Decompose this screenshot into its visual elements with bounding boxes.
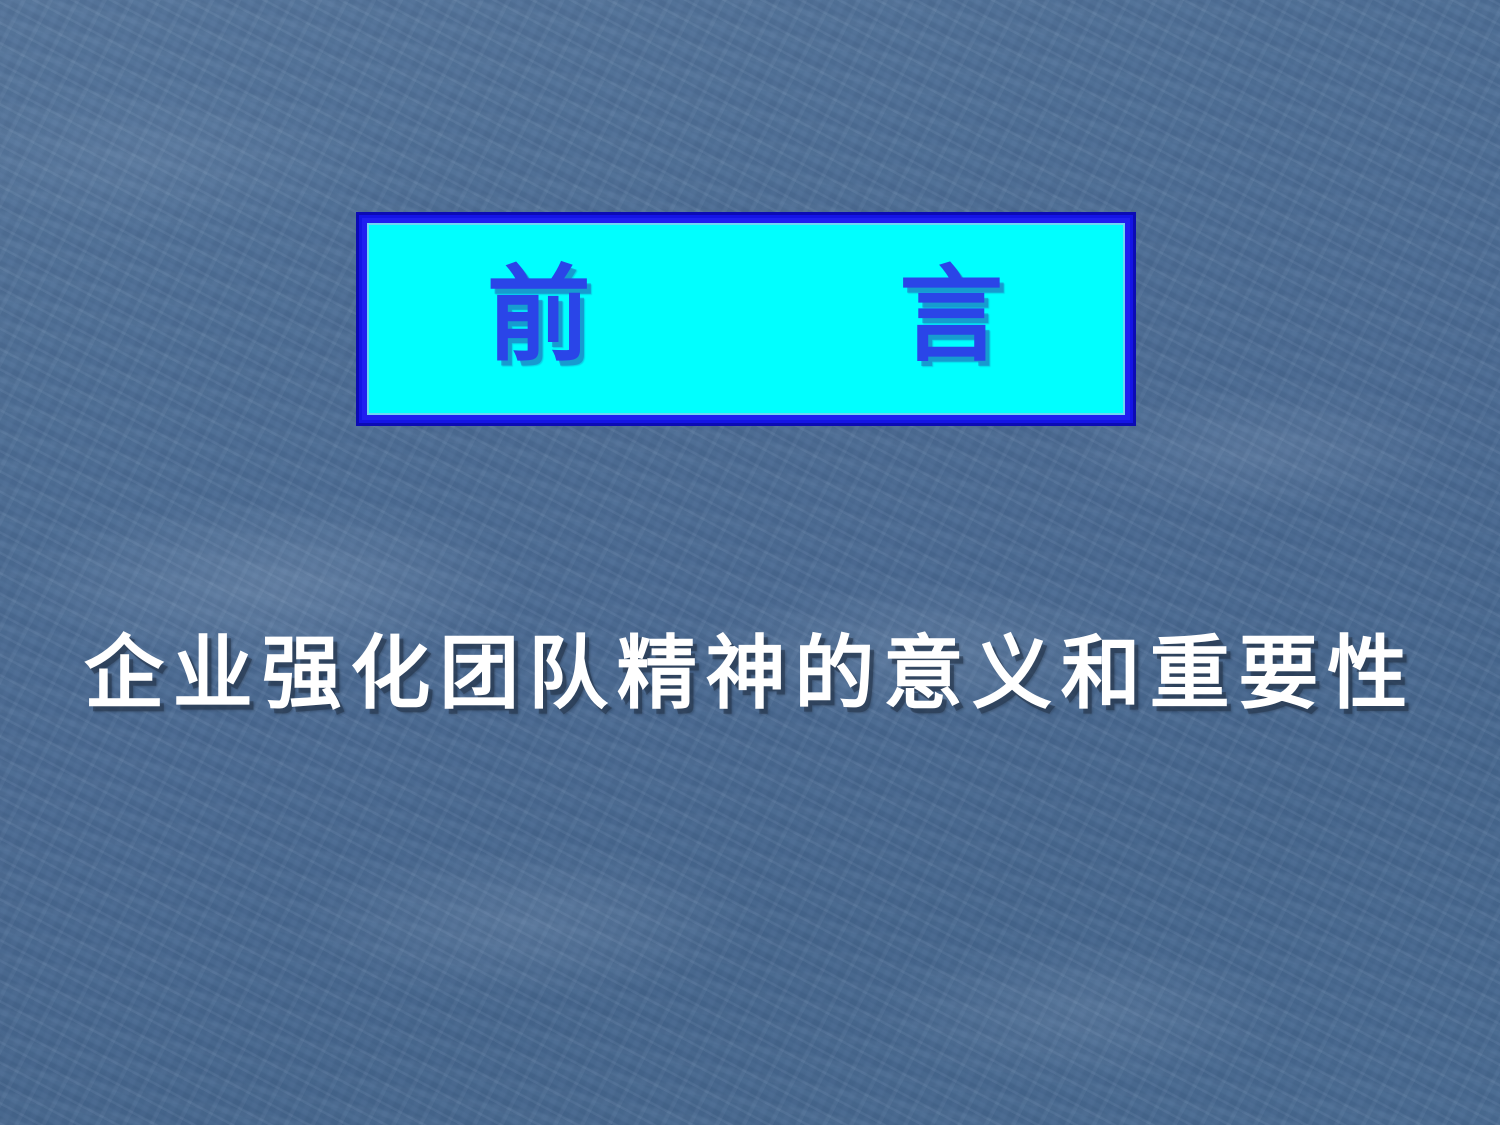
slide-title: 前 言 bbox=[487, 263, 1005, 367]
presentation-slide: 前 言 企业强化团队精神的意义和重要性 bbox=[0, 0, 1500, 1125]
title-box: 前 言 bbox=[356, 212, 1136, 426]
title-box-border-middle: 前 言 bbox=[362, 218, 1130, 420]
slide-subtitle: 企业强化团队精神的意义和重要性 bbox=[84, 634, 1416, 714]
title-box-inner: 前 言 bbox=[367, 223, 1125, 415]
subtitle-container: 企业强化团队精神的意义和重要性 bbox=[0, 624, 1500, 724]
